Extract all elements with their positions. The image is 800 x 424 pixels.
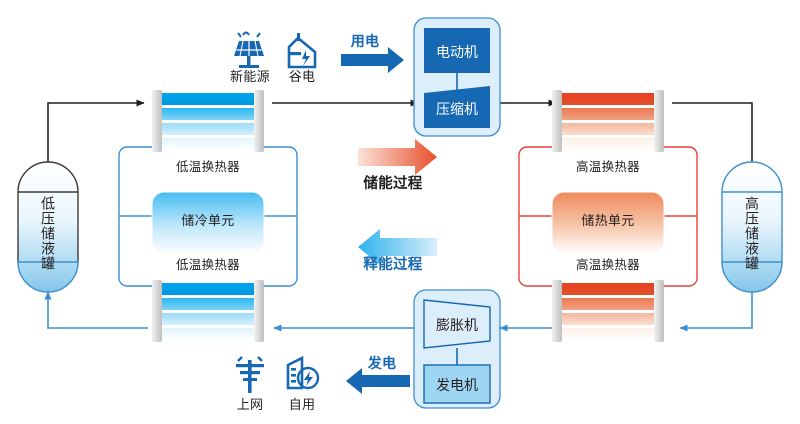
hot-hx-bottom-label: 高温换热器: [548, 259, 668, 272]
hot-heat-exchanger-bottom: [552, 280, 664, 342]
charge-process-label: 储能过程: [351, 177, 435, 192]
building-bolt-icon: [288, 358, 318, 388]
transmission-tower-icon: [236, 357, 264, 393]
hot-heat-exchanger-top: [552, 90, 664, 152]
hot-storage-unit-label: 储热单元: [552, 214, 664, 228]
consume-power-arrow: [341, 47, 404, 73]
generate-power-arrow: [346, 368, 410, 394]
valley-power-label: 谷电: [282, 70, 322, 84]
self-use-label: 自用: [282, 398, 322, 412]
hot-hx-top-label: 高温换热器: [548, 161, 668, 174]
expander-label: 膨胀机: [424, 315, 490, 335]
low-pressure-tank-label: 低压储液罐: [41, 196, 55, 271]
consume-power-label: 用电: [341, 34, 389, 49]
cold-hx-bottom-label: 低温换热器: [148, 259, 268, 272]
generate-power-label: 发电: [358, 356, 406, 371]
cold-heat-exchanger-bottom: [152, 280, 264, 342]
process-flow-diagram: 新能源 谷电 上网 自用 用电 发电 储能过程 释能过程 电动机 压缩机 膨胀机…: [0, 0, 800, 424]
cold-heat-exchanger-top: [152, 90, 264, 152]
grid-output-label: 上网: [230, 398, 270, 412]
factory-bolt-icon: [288, 33, 315, 67]
solar-panel-icon: [234, 33, 264, 69]
motor-label: 电动机: [424, 42, 490, 62]
high-pressure-tank-label: 高压储液罐: [745, 196, 759, 271]
cold-storage-unit-label: 储冷单元: [152, 214, 264, 228]
new-energy-label: 新能源: [224, 70, 276, 84]
cold-hx-top-label: 低温换热器: [148, 161, 268, 174]
charge-process-arrow: [358, 139, 437, 175]
compressor-label: 压缩机: [424, 99, 490, 119]
generator-label: 发电机: [424, 375, 490, 395]
discharge-process-label: 释能过程: [351, 258, 435, 273]
